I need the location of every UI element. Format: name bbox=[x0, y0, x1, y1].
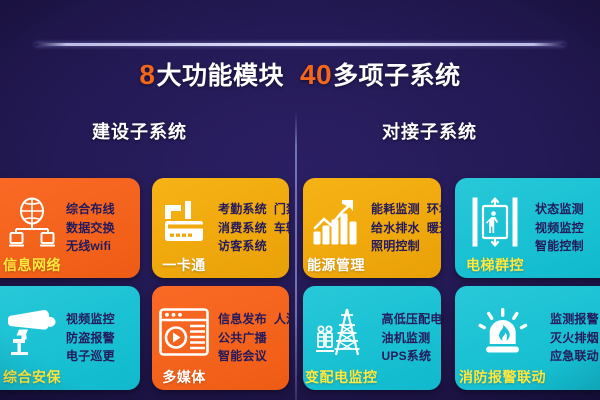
card-item[interactable]: 暖通空调 bbox=[427, 222, 441, 235]
item-row: 智能控制 bbox=[535, 240, 600, 253]
card-multimedia[interactable]: 多媒体 信息发布 人流统计 公共广播 智能会议 bbox=[152, 286, 289, 390]
power-tower-icon bbox=[315, 293, 367, 370]
item-row: 智能会议 bbox=[218, 350, 289, 363]
module-count-label: 大功能模块 bbox=[156, 62, 284, 90]
item-row: 访客系统 bbox=[218, 240, 289, 253]
card-label: 能源管理 bbox=[307, 258, 365, 278]
card-one-card-system[interactable]: 一卡通 考勤系统 门禁系统 消费系统 车辆管理 访客系统 bbox=[152, 178, 289, 278]
globe-network-icon bbox=[9, 185, 55, 258]
elevator-icon bbox=[472, 185, 518, 258]
card-reader-icon bbox=[161, 185, 207, 258]
bar-chart-arrow-icon bbox=[312, 185, 360, 258]
card-item[interactable]: 人流统计 bbox=[274, 313, 289, 326]
item-row: 油机监测 bbox=[382, 332, 442, 345]
card-item[interactable]: 综合布线 bbox=[66, 203, 115, 216]
card-elevator-group-control[interactable]: 电梯群控 状态监测 视频监控 智能控制 bbox=[455, 178, 600, 278]
module-count: 8 bbox=[139, 59, 155, 90]
card-item[interactable]: 灭火排烟 bbox=[550, 332, 599, 345]
card-item[interactable]: UPS系统 bbox=[382, 350, 432, 363]
card-item[interactable]: 视频监控 bbox=[535, 222, 584, 235]
card-information-network[interactable]: 信息网络 综合布线 数据交换 无线wifi bbox=[0, 178, 140, 278]
item-row: 状态监测 bbox=[535, 203, 600, 216]
card-item[interactable]: 环境监测 bbox=[427, 203, 441, 216]
card-label: 电梯群控 bbox=[466, 258, 524, 278]
card-item[interactable]: 信息发布 bbox=[218, 313, 267, 326]
card-item[interactable]: 电子巡更 bbox=[66, 350, 115, 363]
item-row: 无线wifi bbox=[66, 240, 136, 253]
header-divider-line bbox=[35, 43, 565, 46]
poster-canvas: 8大功能模块40多项子系统 建设子系统 对接子系统 信息网络 bbox=[0, 0, 600, 400]
item-row: 给水排水 暖通空调 bbox=[371, 222, 441, 235]
card-power-distribution-monitoring[interactable]: 变配电监控 高低压配电 油机监测 UPS系统 bbox=[303, 286, 441, 390]
card-label: 消防报警联动 bbox=[459, 370, 546, 390]
cctv-camera-icon bbox=[7, 293, 57, 370]
card-label: 一卡通 bbox=[162, 258, 206, 278]
card-item[interactable]: 视频监控 bbox=[66, 313, 115, 326]
card-item[interactable]: 照明控制 bbox=[371, 240, 420, 253]
card-item[interactable]: 访客系统 bbox=[218, 240, 267, 253]
item-row: 能耗监测 环境监测 bbox=[371, 203, 441, 216]
card-item[interactable]: 智能控制 bbox=[535, 240, 584, 253]
card-item[interactable]: 油机监测 bbox=[382, 332, 431, 345]
item-row: 防盗报警 bbox=[66, 332, 136, 345]
item-row: UPS系统 bbox=[382, 350, 442, 363]
card-label: 变配电监控 bbox=[305, 370, 378, 390]
item-row: 照明控制 bbox=[371, 240, 441, 253]
item-row: 视频监控 bbox=[535, 222, 600, 235]
item-row: 电子巡更 bbox=[66, 350, 136, 363]
item-row: 高低压配电 bbox=[382, 313, 442, 326]
card-item[interactable]: 给水排水 bbox=[371, 222, 420, 235]
card-energy-management[interactable]: 能源管理 能耗监测 环境监测 给水排水 暖通空调 照明控制 bbox=[303, 178, 441, 278]
card-fire-alarm-linkage[interactable]: 消防报警联动 监测报警 灭火排烟 应急联动 bbox=[455, 286, 600, 390]
subsystem-count: 40 bbox=[300, 59, 332, 90]
section-title-integration: 对接子系统 bbox=[382, 118, 477, 144]
page-title: 8大功能模块40多项子系统 bbox=[0, 56, 600, 92]
item-row: 视频监控 bbox=[66, 313, 136, 326]
media-player-icon bbox=[159, 293, 209, 370]
item-row: 考勤系统 门禁系统 bbox=[218, 203, 289, 216]
card-label: 综合安保 bbox=[3, 370, 61, 390]
card-item[interactable]: 公共广播 bbox=[218, 332, 267, 345]
item-row: 公共广播 bbox=[218, 332, 289, 345]
fire-alarm-icon bbox=[478, 293, 528, 370]
item-row: 综合布线 bbox=[66, 203, 136, 216]
card-item[interactable]: 数据交换 bbox=[66, 222, 115, 235]
card-item[interactable]: 门禁系统 bbox=[274, 203, 289, 216]
section-divider bbox=[295, 112, 297, 400]
card-item[interactable]: 智能会议 bbox=[218, 350, 267, 363]
item-row: 灭火排烟 bbox=[550, 332, 600, 345]
item-row: 消费系统 车辆管理 bbox=[218, 222, 289, 235]
card-item[interactable]: 状态监测 bbox=[535, 203, 584, 216]
section-title-construction: 建设子系统 bbox=[92, 118, 187, 144]
card-item[interactable]: 监测报警 bbox=[550, 313, 599, 326]
item-row: 信息发布 人流统计 bbox=[218, 313, 289, 326]
card-item[interactable]: 考勤系统 bbox=[218, 203, 267, 216]
card-item[interactable]: 车辆管理 bbox=[274, 222, 289, 235]
item-row: 应急联动 bbox=[550, 350, 600, 363]
card-item[interactable]: 消费系统 bbox=[218, 222, 267, 235]
card-label: 多媒体 bbox=[162, 370, 206, 390]
card-item[interactable]: 高低压配电 bbox=[382, 313, 442, 326]
item-row: 监测报警 bbox=[550, 313, 600, 326]
card-item[interactable]: 能耗监测 bbox=[371, 203, 420, 216]
card-item[interactable]: 应急联动 bbox=[550, 350, 599, 363]
card-item[interactable]: 防盗报警 bbox=[66, 332, 115, 345]
item-row: 数据交换 bbox=[66, 222, 136, 235]
subsystem-count-label: 多项子系统 bbox=[333, 62, 461, 90]
card-item[interactable]: 无线wifi bbox=[66, 240, 111, 253]
card-label: 信息网络 bbox=[3, 258, 61, 278]
card-integrated-security[interactable]: 综合安保 视频监控 防盗报警 电子巡更 bbox=[0, 286, 140, 390]
